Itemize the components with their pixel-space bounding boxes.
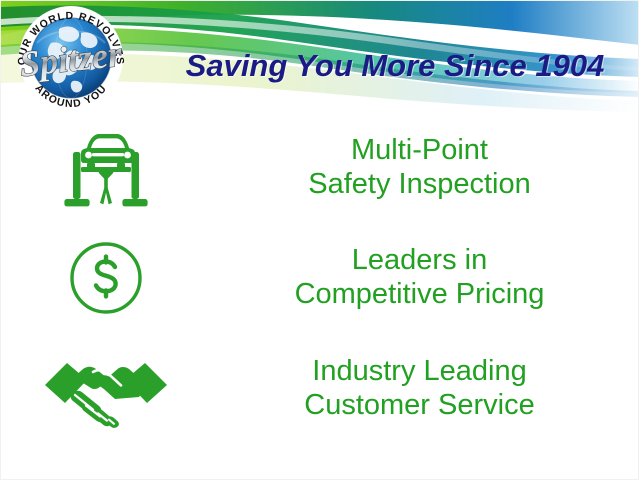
promo-slide: OUR WORLD REVOLVES AROUND YOU Spitzer Sa… — [0, 0, 639, 480]
feature-line-1: Leaders in — [211, 244, 628, 278]
feature-text-competitive-pricing: Leaders in Competitive Pricing — [211, 244, 639, 311]
feature-line-2: Safety Inspection — [211, 168, 628, 202]
page-title: Saving You More Since 1904 — [153, 45, 637, 87]
feature-line-2: Customer Service — [211, 389, 628, 423]
feature-line-2: Competitive Pricing — [211, 278, 628, 312]
spitzer-logo-graphic: OUR WORLD REVOLVES AROUND YOU Spitzer — [7, 3, 135, 113]
feature-row-safety-inspection: Multi-Point Safety Inspection — [1, 115, 639, 220]
spitzer-logo: OUR WORLD REVOLVES AROUND YOU Spitzer — [7, 3, 135, 113]
feature-icon-wrap — [1, 349, 211, 429]
feature-text-safety-inspection: Multi-Point Safety Inspection — [211, 134, 639, 201]
car-lift-icon — [60, 122, 152, 214]
feature-icon-wrap — [1, 122, 211, 214]
feature-list: Multi-Point Safety Inspection Leaders in… — [1, 113, 639, 443]
header-band: OUR WORLD REVOLVES AROUND YOU Spitzer Sa… — [1, 1, 639, 113]
feature-row-competitive-pricing: Leaders in Competitive Pricing — [1, 225, 639, 330]
feature-line-1: Multi-Point — [211, 134, 628, 168]
feature-row-customer-service: Industry Leading Customer Service — [1, 335, 639, 443]
feature-text-customer-service: Industry Leading Customer Service — [211, 355, 639, 422]
dollar-circle-icon — [65, 237, 147, 319]
handshake-icon — [43, 349, 169, 429]
feature-line-1: Industry Leading — [211, 355, 628, 389]
feature-icon-wrap — [1, 237, 211, 319]
